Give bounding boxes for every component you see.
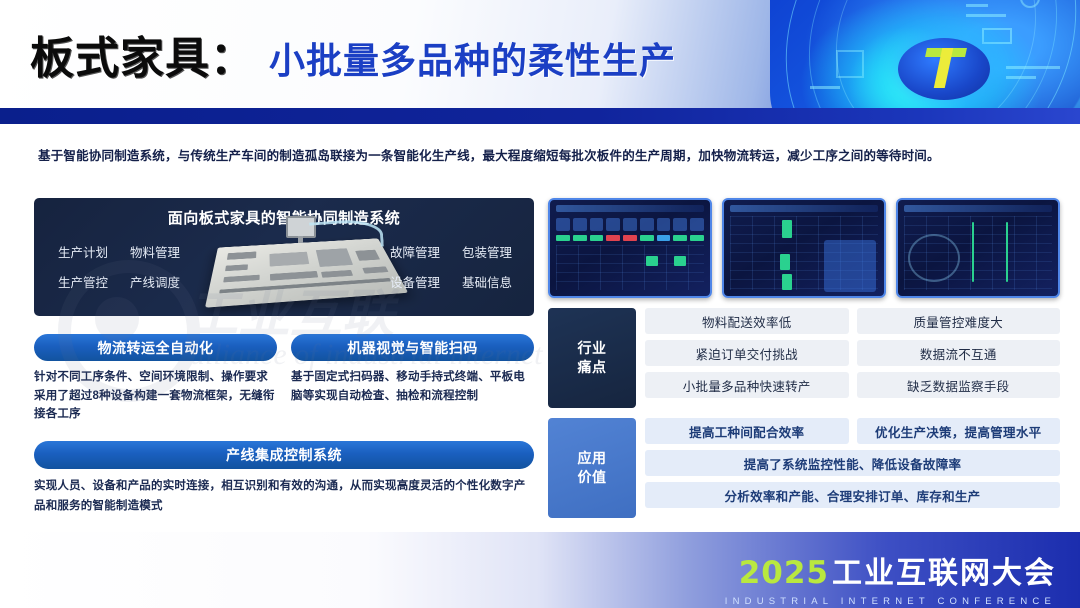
dashboard-grid [556, 245, 704, 290]
pain-point-item[interactable]: 紧迫订单交付挑战 [645, 340, 849, 366]
app-value-rows: 提高工种间配合效率 优化生产决策，提高管理水平 提高了系统监控性能、降低设备故障… [645, 418, 1060, 518]
dashboard-screenshots [548, 198, 1060, 298]
section-logistics: 物流转运全自动化 针对不同工序条件、空间环境限制、操作要求采用了超过8种设备构建… [34, 334, 277, 424]
conference-logo: 2025 工业互联网大会 INDUSTRIAL INTERNET CONFERE… [725, 548, 1056, 607]
section-line-control: 产线集成控制系统 实现人员、设备和产品的实时连接，相互识别和有效的沟通，从而实现… [34, 441, 534, 516]
app-value-row: 分析效率和产能、合理安排订单、库存和生产 [645, 482, 1060, 508]
pain-points-row: 物料配送效率低 质量管控难度大 [645, 308, 1060, 334]
pain-point-item[interactable]: 数据流不互通 [857, 340, 1061, 366]
app-value-row: 提高工种间配合效率 优化生产决策，提高管理水平 [645, 418, 1060, 444]
pain-points-group: 行业 痛点 物料配送效率低 质量管控难度大 紧迫订单交付挑战 数据流不互通 小批… [548, 308, 1060, 408]
dashboard-screenshot-1[interactable] [548, 198, 712, 298]
system-modules-left: 生产计划 物料管理 生产管控 产线调度 [58, 238, 180, 298]
system-module-row: 设备管理 基础信息 [390, 268, 512, 298]
system-module: 故障管理 [390, 238, 440, 268]
system-panel: 面向板式家具的智能协同制造系统 生产计划 物料管理 生产管控 产线调度 故障管理… [34, 198, 534, 316]
pain-point-item[interactable]: 缺乏数据监察手段 [857, 372, 1061, 398]
app-value-item[interactable]: 提高工种间配合效率 [645, 418, 849, 444]
system-module-row: 生产计划 物料管理 [58, 238, 180, 268]
dashboard-chip [780, 254, 790, 270]
app-value-item[interactable]: 提高了系统监控性能、降低设备故障率 [645, 450, 1060, 476]
app-value-label-line1: 应用 [578, 449, 607, 468]
dashboard-chip [782, 274, 792, 290]
section-body-vision: 基于固定式扫码器、移动手持式终端、平板电脑等实现自动检查、抽检和流程控制 [291, 368, 534, 405]
app-value-item[interactable]: 分析效率和产能、合理安排订单、库存和生产 [645, 482, 1060, 508]
pain-points-row: 紧迫订单交付挑战 数据流不互通 [645, 340, 1060, 366]
dashboard-status-strip [556, 235, 704, 241]
pain-points-rows: 物料配送效率低 质量管控难度大 紧迫订单交付挑战 数据流不互通 小批量多品种快速… [645, 308, 1060, 408]
section-body-line-control: 实现人员、设备和产品的实时连接，相互识别和有效的沟通，从而实现高度灵活的个性化数… [34, 477, 534, 516]
page-header: 板式家具： 小批量多品种的柔性生产 [0, 0, 1080, 108]
page-title: 板式家具： 小批量多品种的柔性生产 [30, 22, 676, 86]
pain-points-label-line1: 行业 [578, 339, 607, 358]
t-logo-icon [898, 38, 990, 100]
dashboard-chip [674, 256, 686, 266]
page-title-sub: 小批量多品种的柔性生产 [269, 32, 676, 84]
pain-point-item[interactable]: 质量管控难度大 [857, 308, 1061, 334]
conference-year: 2025 [739, 555, 829, 591]
pain-points-row: 小批量多品种快速转产 缺乏数据监察手段 [645, 372, 1060, 398]
page-title-main: 板式家具： [30, 22, 255, 86]
system-module-row: 生产管控 产线调度 [58, 268, 180, 298]
system-module: 产线调度 [130, 268, 180, 298]
app-value-row: 提高了系统监控性能、降低设备故障率 [645, 450, 1060, 476]
conference-logo-top: 2025 工业互联网大会 [725, 548, 1056, 592]
system-modules-right: 故障管理 包装管理 设备管理 基础信息 [390, 238, 512, 298]
dashboard-screenshot-2[interactable] [722, 198, 886, 298]
intro-paragraph: 基于智能协同制造系统，与传统生产车间的制造孤岛联接为一条智能化生产线，最大程度缩… [38, 146, 1044, 168]
tech-circle-graphic [770, 0, 1080, 108]
dashboard-titlebar [556, 205, 704, 212]
section-heading-vision: 机器视觉与智能扫码 [291, 334, 534, 361]
production-line-illustration [205, 238, 408, 307]
dashboard-chip [782, 220, 792, 238]
system-module: 生产管控 [58, 268, 108, 298]
pain-points-label-line2: 痛点 [578, 358, 607, 377]
dashboard-titlebar [730, 205, 878, 212]
system-module-row: 故障管理 包装管理 [390, 238, 512, 268]
pain-point-item[interactable]: 小批量多品种快速转产 [645, 372, 849, 398]
header-divider [0, 108, 1080, 124]
system-module: 包装管理 [462, 238, 512, 268]
system-module: 物料管理 [130, 238, 180, 268]
system-panel-title: 面向板式家具的智能协同制造系统 [34, 207, 534, 228]
section-body-logistics: 针对不同工序条件、空间环境限制、操作要求采用了超过8种设备构建一套物流框架，无缝… [34, 368, 277, 424]
dashboard-panel [824, 240, 876, 292]
dashboard-divider [972, 222, 974, 282]
dashboard-screenshot-3[interactable] [896, 198, 1060, 298]
dashboard-divider [1006, 222, 1008, 282]
system-module: 基础信息 [462, 268, 512, 298]
section-vision: 机器视觉与智能扫码 基于固定式扫码器、移动手持式终端、平板电脑等实现自动检查、抽… [291, 334, 534, 405]
dashboard-chip [646, 256, 658, 266]
conference-name-en: INDUSTRIAL INTERNET CONFERENCE [725, 596, 1056, 607]
dashboard-titlebar [904, 205, 1052, 212]
dashboard-kpi-cells [556, 218, 704, 231]
app-value-item[interactable]: 优化生产决策，提高管理水平 [857, 418, 1061, 444]
system-module: 生产计划 [58, 238, 108, 268]
section-heading-logistics: 物流转运全自动化 [34, 334, 277, 361]
pain-point-item[interactable]: 物料配送效率低 [645, 308, 849, 334]
pain-points-label: 行业 痛点 [548, 308, 636, 408]
app-value-group: 应用 价值 提高工种间配合效率 优化生产决策，提高管理水平 提高了系统监控性能、… [548, 418, 1060, 518]
dashboard-arc [908, 234, 960, 282]
app-value-label-line2: 价值 [578, 468, 607, 487]
system-module: 设备管理 [390, 268, 440, 298]
section-heading-line-control: 产线集成控制系统 [34, 441, 534, 469]
conference-name-cn: 工业互联网大会 [832, 548, 1056, 592]
app-value-label: 应用 价值 [548, 418, 636, 518]
page-footer: 2025 工业互联网大会 INDUSTRIAL INTERNET CONFERE… [0, 532, 1080, 608]
